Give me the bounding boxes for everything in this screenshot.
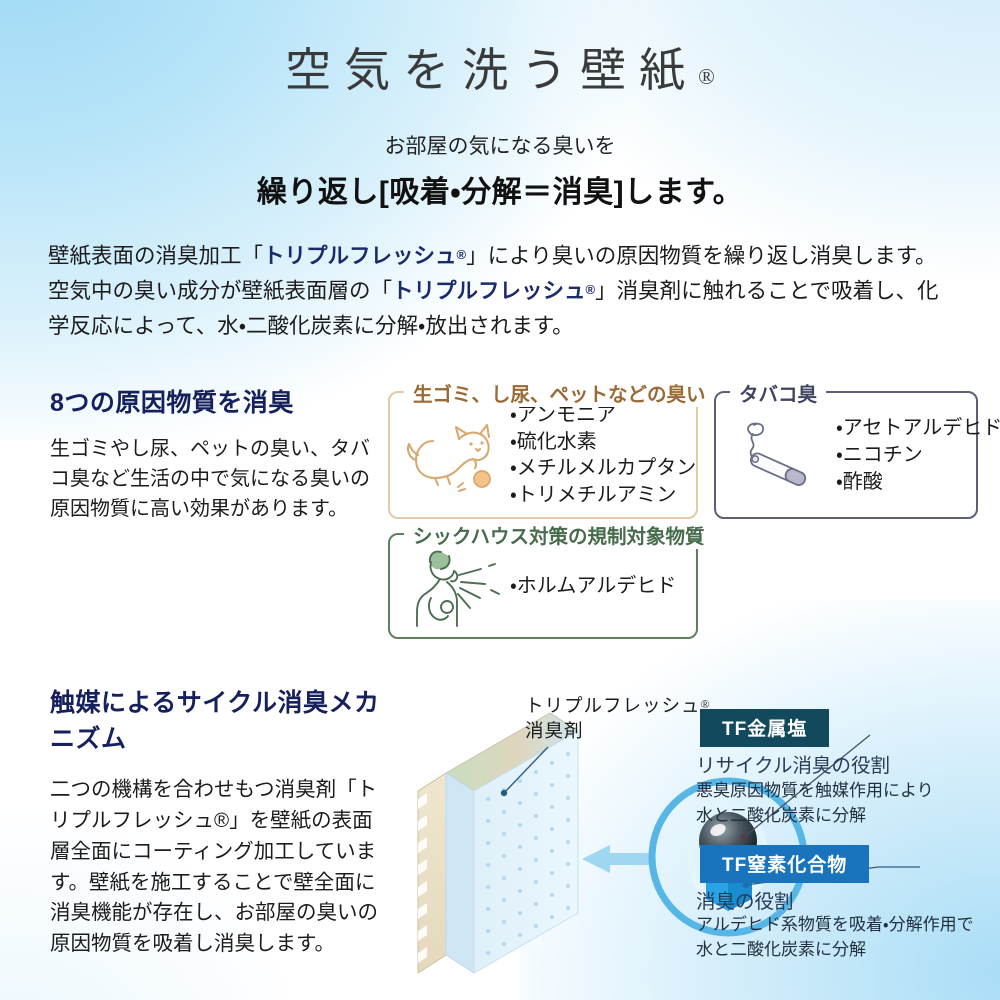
list-item: ・アセトアルデヒド bbox=[836, 415, 1000, 442]
odor-box-sickhouse: シックハウス対策の規制対象物質 bbox=[388, 533, 698, 639]
page-title: 空気を洗う壁紙® bbox=[0, 0, 1000, 94]
intro-text-part-1: 壁紙表面の消臭加工「 bbox=[48, 244, 263, 268]
odor-box-sickhouse-legend: シックハウス対策の規制対象物質 bbox=[404, 520, 714, 549]
list-item: ・硫化水素 bbox=[510, 429, 696, 456]
list-item: ・ホルムアルデヒド bbox=[510, 573, 676, 600]
odor-box-waste-legend: 生ゴミ、し尿、ペットなどの臭い bbox=[404, 378, 715, 407]
callout-desc-line-2: 水と二酸化炭素に分解 bbox=[696, 806, 866, 825]
diagram-caption-freshener: トリプルフレッシュ® 消臭剤 bbox=[525, 695, 711, 745]
brand-name-2-text: トリプルフレッシュ bbox=[392, 279, 586, 303]
intro-paragraph: 壁紙表面の消臭加工「トリプルフレッシュ®」により臭いの原因物質を繰り返し消臭しま… bbox=[48, 239, 952, 343]
substances-text-column: 8つの原因物質を消臭 生ゴミやし尿、ペットの臭い、タバコ臭など生活の中で気になる… bbox=[50, 383, 370, 524]
section-substances-body: 生ゴミやし尿、ペットの臭い、タバコ臭など生活の中で気になる臭いの原因物質に高い効… bbox=[50, 435, 370, 524]
section-mechanism-body: 二つの機構を合わせもつ消臭剤「トリプルフレッシュ®」を壁紙の表面層全面にコーティ… bbox=[50, 775, 380, 960]
odor-box-tobacco-list: ・アセトアルデヒド ・ニコチン ・酢酸 bbox=[836, 415, 1000, 495]
callout-desc-line-1: アルデヒド系物質を吸着・分解作用で bbox=[696, 915, 974, 934]
badge-tf-metal-salt: TF金属塩 bbox=[700, 709, 829, 747]
list-item: ・酢酸 bbox=[836, 469, 1000, 496]
subtitle-line-1: お部屋の気になる臭いを bbox=[0, 130, 1000, 160]
brand-name-1-text: トリプルフレッシュ bbox=[263, 244, 457, 268]
page-title-text: 空気を洗う壁紙 bbox=[285, 45, 698, 96]
registered-mark-icon: ® bbox=[457, 247, 467, 262]
callout-role-tf-metal-salt: リサイクル消臭の役割 bbox=[696, 749, 890, 778]
list-item: ・ニコチン bbox=[836, 442, 1000, 469]
mechanism-text-column: 触媒によるサイクル消臭メカニズム 二つの機構を合わせもつ消臭剤「トリプルフレッシ… bbox=[50, 683, 380, 960]
callout-desc-line-1: 悪臭原因物質を触媒作用により bbox=[696, 781, 934, 800]
subtitle-line-2: 繰り返し[吸着・分解＝消臭]します。 bbox=[0, 167, 1000, 211]
cigarette-icon bbox=[726, 414, 836, 496]
page-root: 空気を洗う壁紙® お部屋の気になる臭いを 繰り返し[吸着・分解＝消臭]します。 … bbox=[0, 0, 1000, 1000]
cat-icon bbox=[400, 413, 510, 497]
diagram-caption-freshener-line2: 消臭剤 bbox=[525, 722, 584, 742]
callout-desc-line-2: 水と二酸化炭素に分解 bbox=[696, 940, 866, 959]
odor-box-waste-list: ・アンモニア ・硫化水素 ・メチルメルカプタン ・トリメチルアミン bbox=[510, 402, 696, 509]
list-item: ・メチルメルカプタン bbox=[510, 455, 696, 482]
diagram-caption-freshener-line1: トリプルフレッシュ bbox=[525, 697, 701, 717]
section-mechanism: 触媒によるサイクル消臭メカニズム 二つの機構を合わせもつ消臭剤「トリプルフレッシ… bbox=[0, 683, 1000, 983]
odor-box-tobacco: タバコ臭 bbox=[714, 391, 978, 519]
odor-box-waste: 生ゴミ、し尿、ペットなどの臭い bbox=[388, 391, 698, 519]
section-substances: 8つの原因物質を消臭 生ゴミやし尿、ペットの臭い、タバコ臭など生活の中で気になる… bbox=[0, 383, 1000, 643]
registered-mark-icon: ® bbox=[698, 64, 715, 89]
odor-box-tobacco-legend: タバコ臭 bbox=[730, 378, 826, 407]
badge-tf-nitrogen-compound: TF窒素化合物 bbox=[700, 845, 869, 883]
odor-box-sickhouse-list: ・ホルムアルデヒド bbox=[510, 573, 676, 600]
section-substances-heading: 8つの原因物質を消臭 bbox=[50, 383, 370, 419]
section-mechanism-heading: 触媒によるサイクル消臭メカニズム bbox=[50, 683, 380, 755]
coughing-person-icon bbox=[400, 542, 510, 630]
callout-desc-tf-nitrogen-compound: アルデヒド系物質を吸着・分解作用で 水と二酸化炭素に分解 bbox=[696, 913, 974, 962]
callout-desc-tf-metal-salt: 悪臭原因物質を触媒作用により 水と二酸化炭素に分解 bbox=[696, 779, 934, 828]
list-item: ・トリメチルアミン bbox=[510, 482, 696, 509]
brand-name-2: トリプルフレッシュ® bbox=[392, 279, 595, 303]
mechanism-diagram: トリプルフレッシュ® 消臭剤 TF金属塩 リサイクル消臭の役割 悪臭原因物質を触… bbox=[400, 687, 1000, 977]
registered-mark-icon: ® bbox=[586, 282, 596, 297]
callout-role-tf-nitrogen-compound: 消臭の役割 bbox=[696, 885, 794, 914]
brand-name-1: トリプルフレッシュ® bbox=[263, 244, 466, 268]
